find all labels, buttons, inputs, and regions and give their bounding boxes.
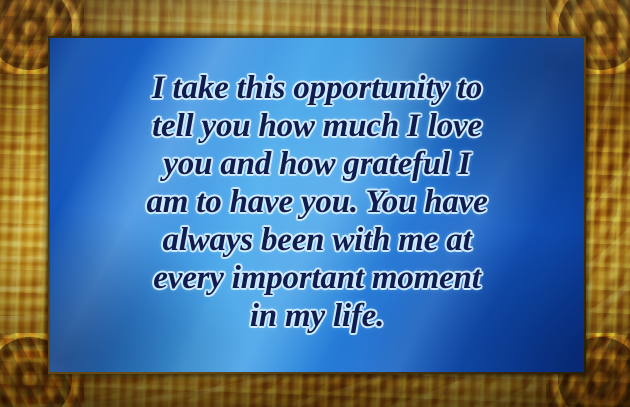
framed-quote-poster: I take this opportunity to tell you how … (0, 0, 630, 407)
quote-line: am to have you. You have (146, 183, 487, 221)
quote-line: always been with me at (162, 221, 471, 259)
quote-line: every important moment (153, 259, 480, 297)
quote-line: you and how grateful I (163, 145, 470, 183)
quote-line: I take this opportunity to (152, 69, 482, 107)
blue-background-panel: I take this opportunity to tell you how … (50, 38, 584, 372)
quote-line: tell you how much I love (152, 107, 482, 145)
quote-text-block: I take this opportunity to tell you how … (50, 38, 584, 372)
quote-line: in my life. (250, 297, 384, 335)
